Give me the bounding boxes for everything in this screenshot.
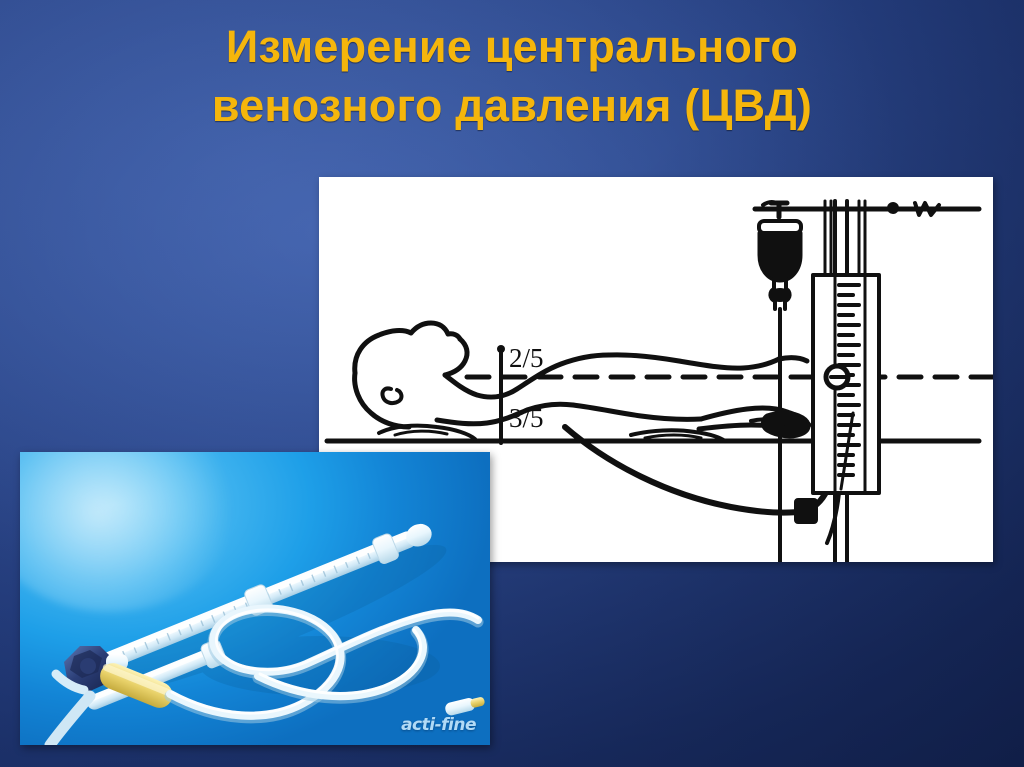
patient-chest-lower [437, 404, 573, 424]
three-way-stopcock [795, 499, 817, 523]
patient-torso-top [609, 355, 779, 368]
drip-chamber-cap [759, 221, 801, 233]
patient-jaw [445, 339, 467, 375]
patient-hand-fingers [763, 412, 810, 437]
label-upper-fraction: 2/5 [509, 343, 544, 373]
catheter-tip [50, 696, 90, 745]
pillow-crease [395, 431, 447, 435]
patient-abdomen-top [573, 405, 701, 419]
patient-head-top [355, 323, 460, 373]
cvp-manometer-set-photo: acti-fine [20, 452, 490, 745]
manometer-riser-right [859, 201, 865, 275]
patient-leg-crease [645, 435, 701, 438]
photo-watermark: acti-fine [401, 715, 476, 735]
manometer-riser-left [825, 201, 831, 275]
drip-valve [770, 288, 790, 302]
tubing-end-connector [444, 694, 486, 716]
page-title: Измерение центрального венозного давлени… [0, 18, 1024, 135]
reference-line-top-dot [497, 345, 505, 353]
photo-contents [20, 452, 490, 745]
slide: Измерение центрального венозного давлени… [0, 0, 1024, 767]
iv-drip-chamber [759, 233, 801, 281]
label-lower-fraction: 3/5 [509, 403, 544, 433]
patient-ear [382, 388, 401, 403]
patient-arm-top [779, 358, 807, 361]
iv-stand-hook [915, 203, 939, 215]
iv-stand-bar-joint [887, 202, 899, 214]
